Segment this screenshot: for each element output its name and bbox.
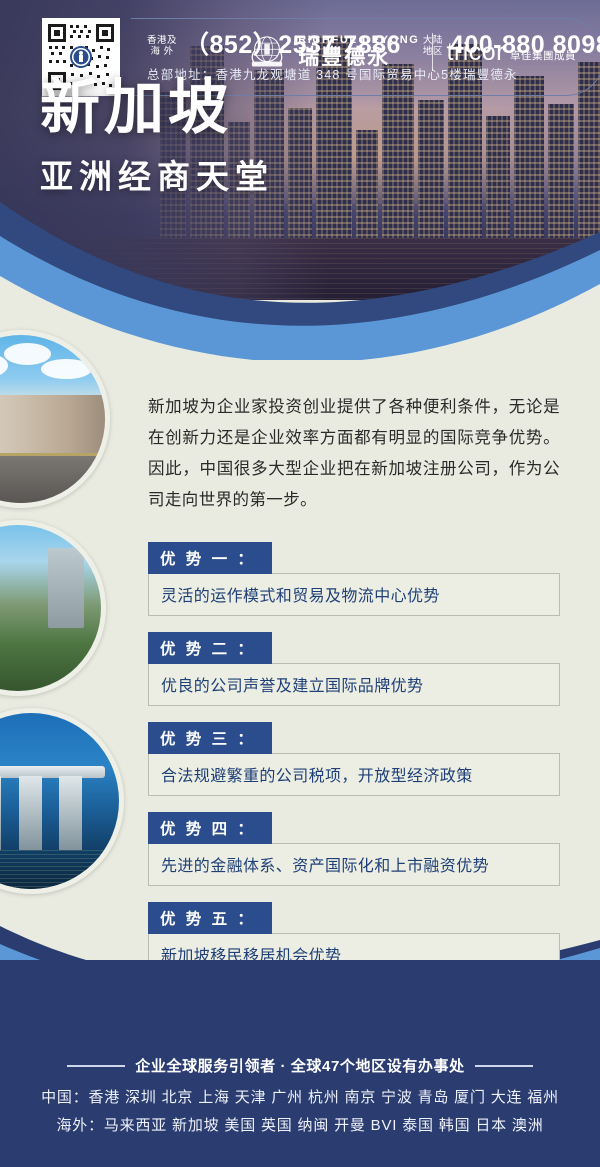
bay-water [0, 850, 119, 889]
advantage-label: 优 势 一 ： [148, 542, 272, 574]
page-subtitle: 亚洲经商天堂 [40, 160, 274, 193]
photo-marina-bay-sands-dusk [0, 708, 124, 894]
advantage-list: 优 势 一 ： 灵活的运作模式和贸易及物流中心优势 优 势 二 ： 优良的公司声… [148, 542, 560, 976]
photo-image [0, 713, 119, 889]
mbs-tower [0, 776, 1, 853]
photo-image [0, 525, 101, 691]
logo-divider [432, 33, 433, 71]
advantage-text: 合法规避繁重的公司税项，开放型经济政策 [148, 753, 560, 796]
title-block: 新加坡 亚洲经商天堂 [40, 78, 274, 193]
cloud [4, 343, 51, 365]
advantage-text: 先进的金融体系、资产国际化和上市融资优势 [148, 843, 560, 886]
footer: 企业全球服务引领者 · 全球47个地区设有办事处 中国：香港 深圳 北京 上海 … [0, 1055, 600, 1135]
advantage-label: 优 势 五 ： [148, 902, 272, 934]
overseas-offices-line: 海外：马来西亚 新加坡 美国 英国 纳闽 开曼 BVI 泰国 韩国 日本 澳洲 [0, 1114, 600, 1135]
advantage-label: 优 势 二 ： [148, 632, 272, 664]
cloud [41, 359, 91, 379]
brand-chinese-name: 瑞豐德永 [298, 46, 419, 70]
advantage-item: 优 势 四 ： 先进的金融体系、资产国际化和上市融资优势 [148, 812, 560, 886]
brand-english-name: RICHFUL DEYONG [298, 34, 419, 46]
mbs-tower [59, 776, 82, 853]
advantage-item: 优 势 二 ： 优良的公司声誉及建立国际品牌优势 [148, 632, 560, 706]
advantage-label: 优 势 三 ： [148, 722, 272, 754]
brand-names: RICHFUL DEYONG 瑞豐德永 [298, 34, 419, 70]
advantage-item: 优 势 三 ： 合法规避繁重的公司税项，开放型经济政策 [148, 722, 560, 796]
slogan-row: 企业全球服务引领者 · 全球47个地区设有办事处 [0, 1055, 600, 1076]
hk-phone-label-line2: 海 外 [147, 46, 177, 57]
hk-phone-label: 香港及 海 外 [147, 35, 177, 57]
main-content: 新加坡为企业家投资创业提供了各种便利条件，无论是在创新力还是企业效率方面都有明显… [148, 392, 560, 976]
photo-singapore-green-city [0, 520, 106, 696]
page-title: 新加坡 [40, 78, 274, 138]
photo-column [0, 330, 150, 950]
slogan-rule-right [475, 1065, 533, 1067]
partner-suffix: 卓佳集團成員 [510, 48, 576, 65]
hk-phone-label-line1: 香港及 [147, 35, 177, 46]
advantage-text: 优良的公司声誉及建立国际品牌优势 [148, 663, 560, 706]
intro-paragraph: 新加坡为企业家投资创业提供了各种便利条件，无论是在创新力还是企业效率方面都有明显… [148, 392, 560, 516]
richful-crest-icon [245, 30, 289, 74]
slogan-rule-left [67, 1065, 125, 1067]
advantage-text: 灵活的运作模式和贸易及物流中心优势 [148, 573, 560, 616]
advantage-label: 优 势 四 ： [148, 812, 272, 844]
partner-name: tricor [446, 40, 505, 65]
poster-root: 新加坡 亚洲经商天堂 RICHFUL DEYONG 瑞豐德永 tricor 卓佳… [0, 0, 600, 1167]
brand-logo[interactable]: RICHFUL DEYONG 瑞豐德永 tricor 卓佳集團成員 [245, 30, 576, 74]
skypark-deck [0, 766, 105, 778]
partner-logo: tricor 卓佳集團成員 [446, 40, 576, 65]
advantage-item: 优 势 一 ： 灵活的运作模式和贸易及物流中心优势 [148, 542, 560, 616]
china-offices-line: 中国：香港 深圳 北京 上海 天津 广州 杭州 南京 宁波 青岛 厦门 大连 福… [0, 1086, 600, 1107]
company-slogan: 企业全球服务引领者 · 全球47个地区设有办事处 [135, 1055, 464, 1076]
photo-singapore-shophouse-street [0, 330, 110, 508]
mbs-tower [19, 776, 42, 853]
photo-image [0, 335, 105, 503]
